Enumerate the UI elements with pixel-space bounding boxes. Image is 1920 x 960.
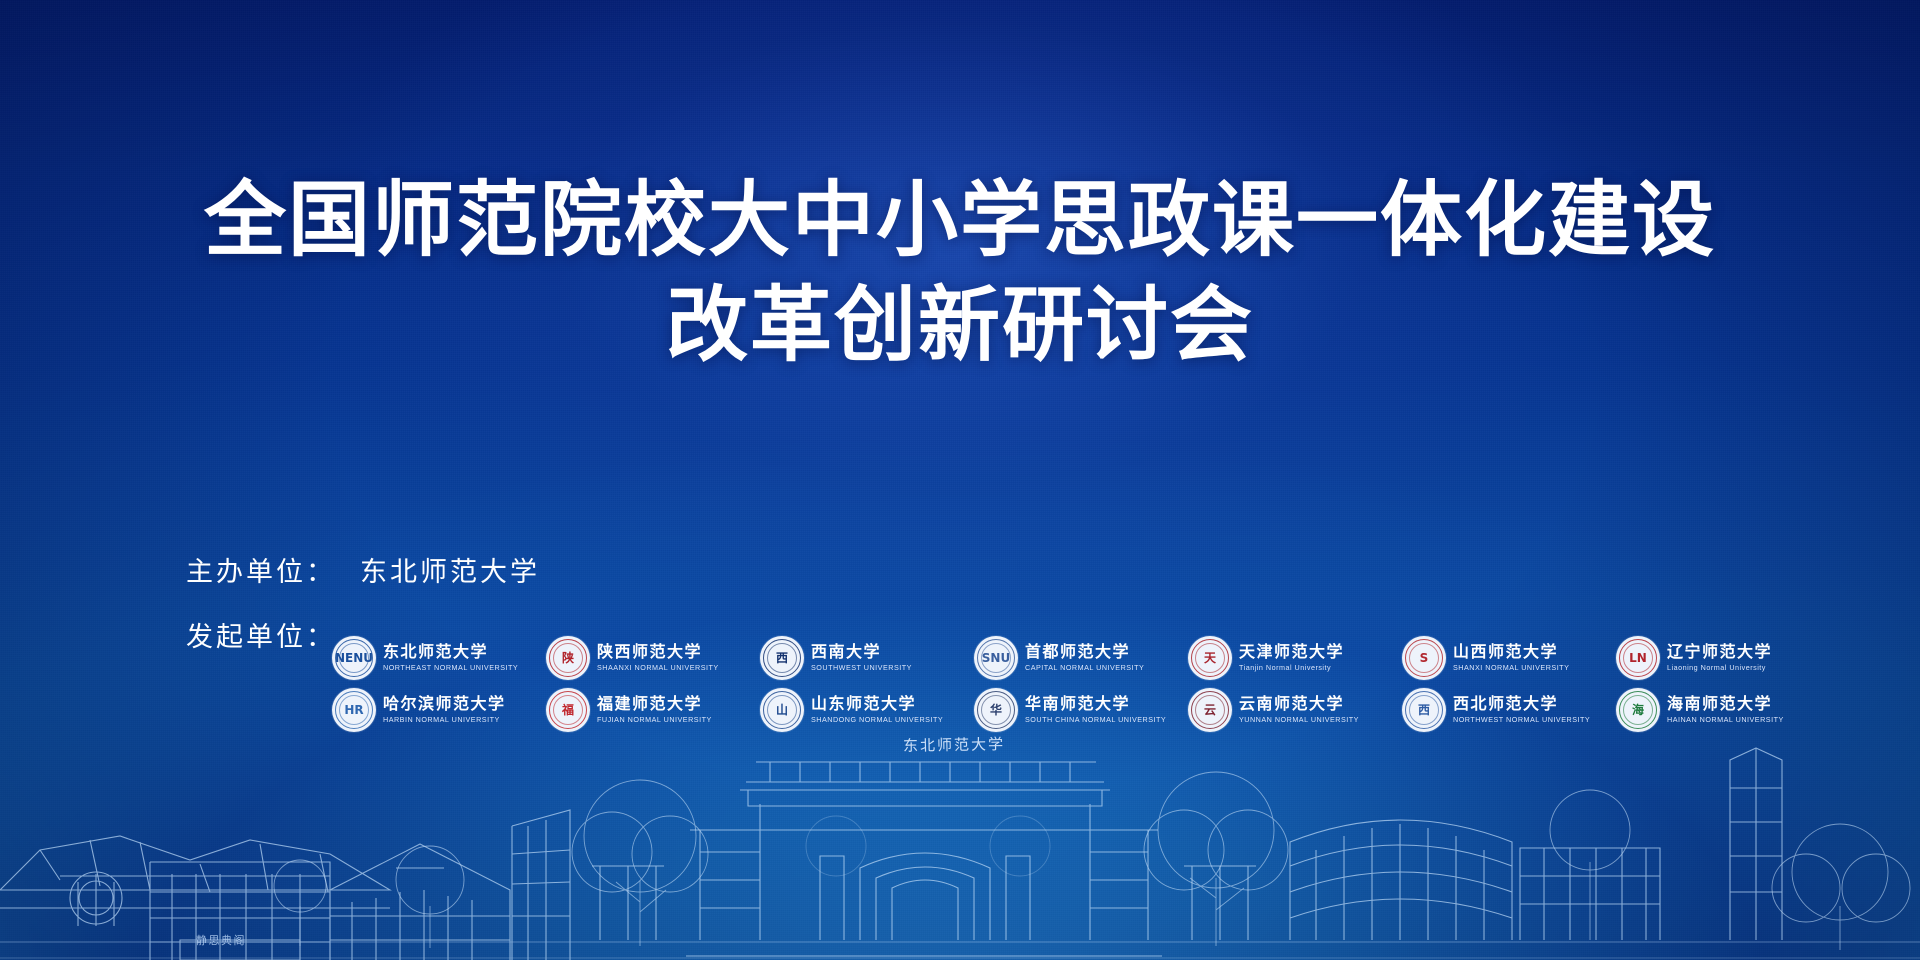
initiator-logo-text: 福建师范大学FUJIAN NORMAL UNIVERSITY xyxy=(597,695,712,724)
initiator-name-en: NORTHWEST NORMAL UNIVERSITY xyxy=(1453,716,1590,725)
university-seal-icon: 天 xyxy=(1188,636,1232,680)
initiator-logo-text: 华南师范大学SOUTH CHINA NORMAL UNIVERSITY xyxy=(1025,695,1166,724)
initiator-name-cn: 陕西师范大学 xyxy=(597,643,719,661)
initiator-logo-text: 东北师范大学NORTHEAST NORMAL UNIVERSITY xyxy=(383,643,518,672)
university-seal-icon: HR xyxy=(332,688,376,732)
initiator-logo-text: 哈尔滨师范大学HARBIN NORMAL UNIVERSITY xyxy=(383,695,506,724)
initiator-name-en: SHAANXI NORMAL UNIVERSITY xyxy=(597,664,719,673)
university-seal-icon: 陕 xyxy=(546,636,590,680)
host-row: 主办单位： 东北师范大学 xyxy=(186,550,540,589)
initiator-logo-item: 海海南师范大学HAINAN NORMAL UNIVERSITY xyxy=(1616,688,1830,732)
initiator-name-en: SHANDONG NORMAL UNIVERSITY xyxy=(811,716,943,725)
initiator-name-cn: 海南师范大学 xyxy=(1667,695,1784,713)
initiator-name-cn: 福建师范大学 xyxy=(597,695,712,713)
initiator-name-cn: 哈尔滨师范大学 xyxy=(383,695,506,713)
university-seal-icon: SNU xyxy=(974,636,1018,680)
initiator-logo-item: 山山东师范大学SHANDONG NORMAL UNIVERSITY xyxy=(760,688,974,732)
initiator-logo-item: HR哈尔滨师范大学HARBIN NORMAL UNIVERSITY xyxy=(332,688,546,732)
initiator-name-en: YUNNAN NORMAL UNIVERSITY xyxy=(1239,716,1359,725)
initiator-name-cn: 山西师范大学 xyxy=(1453,643,1569,661)
initiator-name-en: NORTHEAST NORMAL UNIVERSITY xyxy=(383,664,518,673)
initiator-logo-item: 福福建师范大学FUJIAN NORMAL UNIVERSITY xyxy=(546,688,760,732)
initiator-name-en: FUJIAN NORMAL UNIVERSITY xyxy=(597,716,712,725)
poster-title: 全国师范院校大中小学思政课一体化建设 改革创新研讨会 xyxy=(0,168,1920,378)
initiator-name-cn: 辽宁师范大学 xyxy=(1667,643,1772,661)
initiator-name-en: Tianjin Normal University xyxy=(1239,664,1344,673)
initiator-name-cn: 东北师范大学 xyxy=(383,643,518,661)
initiator-logo-text: 首都师范大学CAPITAL NORMAL UNIVERSITY xyxy=(1025,643,1144,672)
university-seal-icon: 华 xyxy=(974,688,1018,732)
initiator-name-en: HAINAN NORMAL UNIVERSITY xyxy=(1667,716,1784,725)
initiator-logo-item: 天天津师范大学Tianjin Normal University xyxy=(1188,636,1402,680)
initiator-logo-item: NENU东北师范大学NORTHEAST NORMAL UNIVERSITY xyxy=(332,636,546,680)
title-line-2: 改革创新研讨会 xyxy=(0,273,1920,378)
title-line-1: 全国师范院校大中小学思政课一体化建设 xyxy=(0,168,1920,273)
initiator-name-cn: 云南师范大学 xyxy=(1239,695,1359,713)
initiator-logo-item: 西西南大学SOUTHWEST UNIVERSITY xyxy=(760,636,974,680)
initiator-logo-text: 天津师范大学Tianjin Normal University xyxy=(1239,643,1344,672)
initiator-name-cn: 西南大学 xyxy=(811,643,912,661)
university-seal-icon: 福 xyxy=(546,688,590,732)
initiator-logo-item: S山西师范大学SHANXI NORMAL UNIVERSITY xyxy=(1402,636,1616,680)
initiator-logo-text: 云南师范大学YUNNAN NORMAL UNIVERSITY xyxy=(1239,695,1359,724)
initiator-logo-text: 山西师范大学SHANXI NORMAL UNIVERSITY xyxy=(1453,643,1569,672)
university-seal-icon: NENU xyxy=(332,636,376,680)
initiator-name-cn: 华南师范大学 xyxy=(1025,695,1166,713)
campus-building-text: 静思典阁 xyxy=(196,932,246,948)
university-seal-icon: 山 xyxy=(760,688,804,732)
university-seal-icon: 西 xyxy=(1402,688,1446,732)
logo-row-1: NENU东北师范大学NORTHEAST NORMAL UNIVERSITY陕陕西… xyxy=(332,636,1832,680)
poster-canvas: 全国师范院校大中小学思政课一体化建设 改革创新研讨会 主办单位： 东北师范大学 … xyxy=(0,0,1920,960)
initiator-logo-text: 西南大学SOUTHWEST UNIVERSITY xyxy=(811,643,912,672)
initiator-name-en: HARBIN NORMAL UNIVERSITY xyxy=(383,716,506,725)
initiator-logo-item: LN辽宁师范大学Liaoning Normal University xyxy=(1616,636,1830,680)
initiator-logo-text: 辽宁师范大学Liaoning Normal University xyxy=(1667,643,1772,672)
initiator-name-cn: 首都师范大学 xyxy=(1025,643,1144,661)
initiator-name-cn: 西北师范大学 xyxy=(1453,695,1590,713)
initiators-label: 发起单位： xyxy=(186,615,332,654)
initiator-logo-item: 华华南师范大学SOUTH CHINA NORMAL UNIVERSITY xyxy=(974,688,1188,732)
initiator-name-en: Liaoning Normal University xyxy=(1667,664,1772,673)
background-grain-texture xyxy=(0,0,1920,960)
initiator-logo-item: 陕陕西师范大学SHAANXI NORMAL UNIVERSITY xyxy=(546,636,760,680)
university-seal-icon: S xyxy=(1402,636,1446,680)
initiator-logo-text: 山东师范大学SHANDONG NORMAL UNIVERSITY xyxy=(811,695,943,724)
university-seal-icon: 海 xyxy=(1616,688,1660,732)
host-value: 东北师范大学 xyxy=(360,550,540,589)
university-seal-icon: 西 xyxy=(760,636,804,680)
initiator-logo-text: 西北师范大学NORTHWEST NORMAL UNIVERSITY xyxy=(1453,695,1590,724)
initiator-logo-item: 西西北师范大学NORTHWEST NORMAL UNIVERSITY xyxy=(1402,688,1616,732)
initiator-name-en: SOUTHWEST UNIVERSITY xyxy=(811,664,912,673)
initiator-logo-item: SNU首都师范大学CAPITAL NORMAL UNIVERSITY xyxy=(974,636,1188,680)
background-vignette xyxy=(0,0,1920,960)
initiator-name-en: SHANXI NORMAL UNIVERSITY xyxy=(1453,664,1569,673)
initiator-logo-item: 云云南师范大学YUNNAN NORMAL UNIVERSITY xyxy=(1188,688,1402,732)
university-seal-icon: LN xyxy=(1616,636,1660,680)
initiator-logo-text: 陕西师范大学SHAANXI NORMAL UNIVERSITY xyxy=(597,643,719,672)
initiator-name-en: SOUTH CHINA NORMAL UNIVERSITY xyxy=(1025,716,1166,725)
initiator-name-en: CAPITAL NORMAL UNIVERSITY xyxy=(1025,664,1144,673)
logo-row-2: HR哈尔滨师范大学HARBIN NORMAL UNIVERSITY福福建师范大学… xyxy=(332,688,1832,732)
university-seal-icon: 云 xyxy=(1188,688,1232,732)
initiator-logo-text: 海南师范大学HAINAN NORMAL UNIVERSITY xyxy=(1667,695,1784,724)
initiator-name-cn: 天津师范大学 xyxy=(1239,643,1344,661)
initiator-name-cn: 山东师范大学 xyxy=(811,695,943,713)
initiator-logo-grid: NENU东北师范大学NORTHEAST NORMAL UNIVERSITY陕陕西… xyxy=(332,636,1832,740)
host-label: 主办单位： xyxy=(186,550,332,589)
